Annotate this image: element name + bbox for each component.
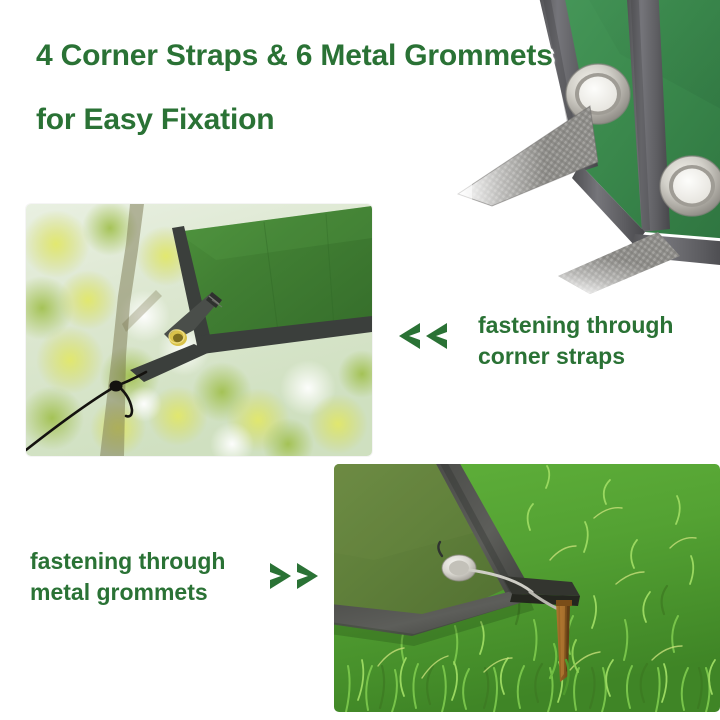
grommet-stake-grass-illustration (334, 464, 720, 712)
corner-strap (458, 106, 598, 206)
chevron-left-icon (398, 322, 422, 350)
callout-metal-grommets-line-2: metal grommets (30, 577, 280, 608)
photo-top-right-grommet-closeup (430, 0, 720, 294)
cord-knot (110, 381, 123, 392)
grommet-closeup-illustration (430, 0, 720, 294)
callout-metal-grommets: fastening through metal grommets (30, 546, 280, 608)
callout-corner-straps-line-2: corner straps (478, 341, 718, 372)
infographic-canvas: 4 Corner Straps & 6 Metal Grommets for E… (0, 0, 720, 720)
chevron-right-icon (295, 562, 319, 590)
callout-corner-straps-line-1: fastening through (478, 310, 718, 341)
photo-bottom-right-grommet-stake (334, 464, 720, 712)
callout-corner-straps: fastening through corner straps (478, 310, 718, 372)
chevron-left-icon (425, 322, 449, 350)
double-chevron-left-icon (398, 322, 449, 350)
double-chevron-right-icon (268, 562, 319, 590)
metal-grommet (660, 156, 720, 216)
corner-strap (558, 232, 680, 294)
chevron-right-icon (268, 562, 292, 590)
corner-strap-outdoor-illustration (26, 204, 372, 456)
callout-metal-grommets-line-1: fastening through (30, 546, 280, 577)
photo-left-corner-strap-outdoor (26, 204, 372, 456)
